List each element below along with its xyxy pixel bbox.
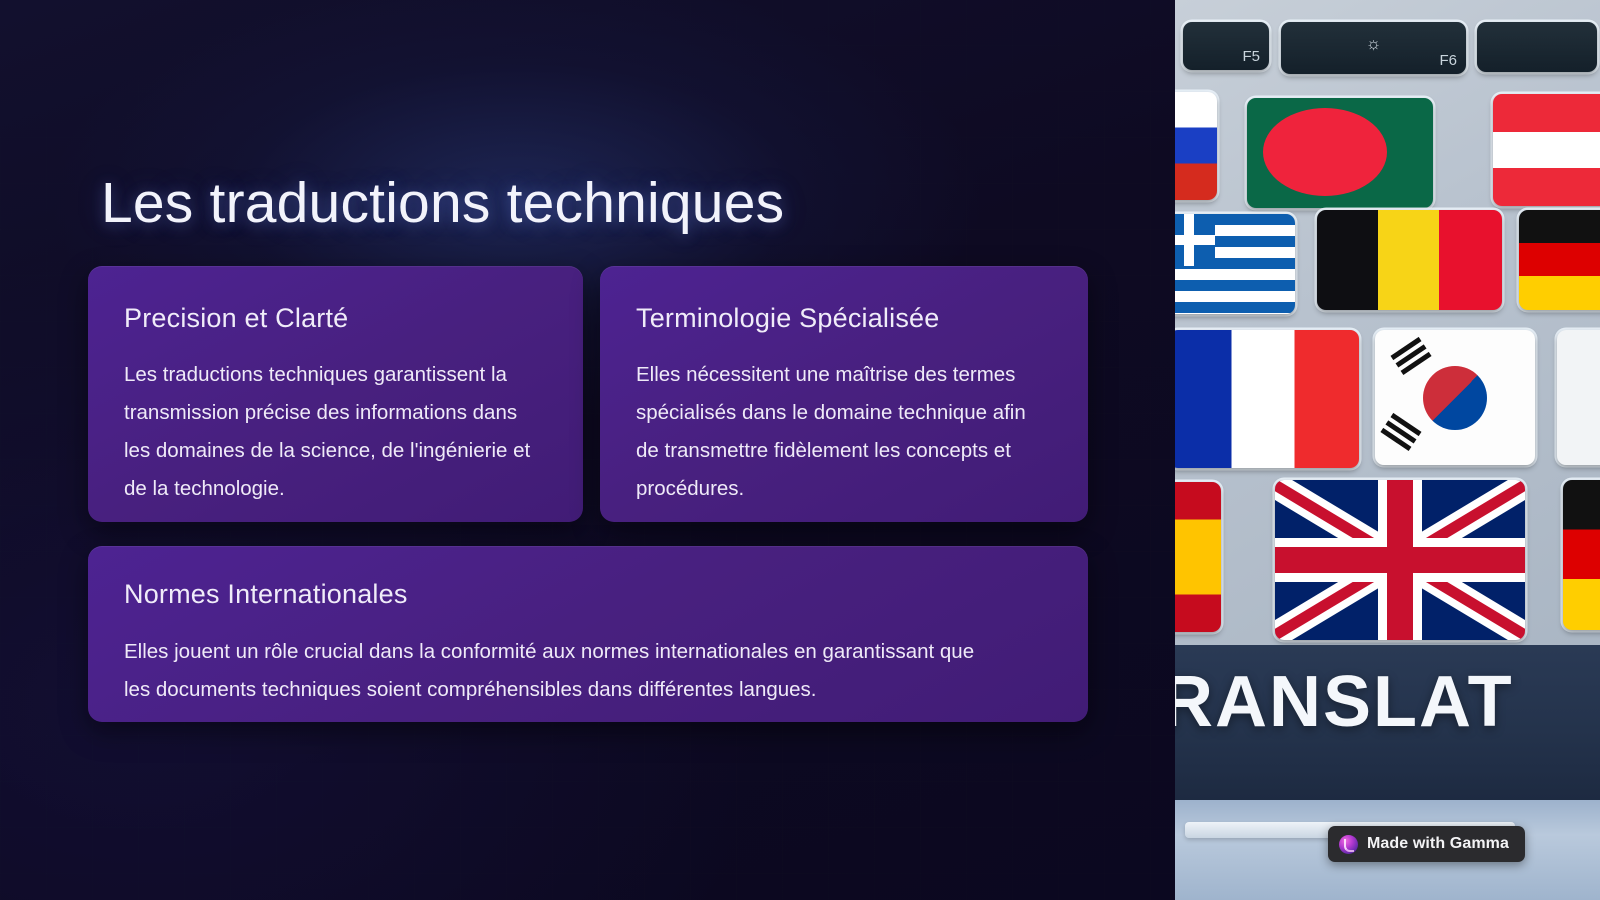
card-body: Elles jouent un rôle crucial dans la con…: [124, 633, 1004, 709]
card-body: Elles nécessitent une maîtrise des terme…: [636, 356, 1046, 508]
key-flag-belgium: [1317, 210, 1502, 310]
key-f6-label: F6: [1439, 52, 1457, 69]
key-flag-greece: [1175, 214, 1295, 314]
translate-banner: RANSLAT: [1175, 645, 1600, 800]
key-f5-label: F5: [1242, 48, 1260, 65]
keyboard-backlight-icon: ☼: [1366, 34, 1382, 54]
key-flag-bangladesh: [1247, 98, 1433, 208]
side-image-keyboard-flags: F5 ☼ F6: [1175, 0, 1600, 900]
key-flag-partial-right: [1557, 330, 1600, 465]
key-flag-united-kingdom: [1275, 480, 1525, 640]
page-title: Les traductions techniques: [101, 170, 784, 236]
card-title: Precision et Clarté: [124, 303, 348, 334]
made-with-gamma-badge[interactable]: Made with Gamma: [1328, 826, 1525, 862]
key-flag-austria: [1493, 94, 1600, 206]
key-f6: ☼ F6: [1281, 22, 1466, 74]
card-precision-et-clarte[interactable]: Precision et Clarté Les traductions tech…: [88, 266, 583, 522]
content-panel: Les traductions techniques Precision et …: [0, 0, 1175, 900]
made-with-gamma-label: Made with Gamma: [1367, 835, 1509, 853]
key-flag-germany-top: [1519, 210, 1600, 310]
card-title: Normes Internationales: [124, 579, 408, 610]
key-flag-france: [1175, 330, 1359, 468]
key-f5: F5: [1183, 22, 1269, 70]
card-title: Terminologie Spécialisée: [636, 303, 939, 334]
key-f7: [1477, 22, 1597, 72]
card-body: Les traductions techniques garantissent …: [124, 356, 544, 508]
translate-banner-text: RANSLAT: [1175, 661, 1514, 743]
slide: Les traductions techniques Precision et …: [0, 0, 1600, 900]
key-flag-spain: [1175, 482, 1221, 632]
gamma-logo-icon: [1339, 835, 1358, 854]
key-flag-germany: [1563, 480, 1600, 630]
key-flag-south-korea: [1375, 330, 1535, 465]
card-normes-internationales[interactable]: Normes Internationales Elles jouent un r…: [88, 546, 1088, 722]
key-flag-russia: [1175, 92, 1217, 200]
card-terminologie-specialisee[interactable]: Terminologie Spécialisée Elles nécessite…: [600, 266, 1088, 522]
keyboard-surface: F5 ☼ F6: [1175, 0, 1600, 645]
